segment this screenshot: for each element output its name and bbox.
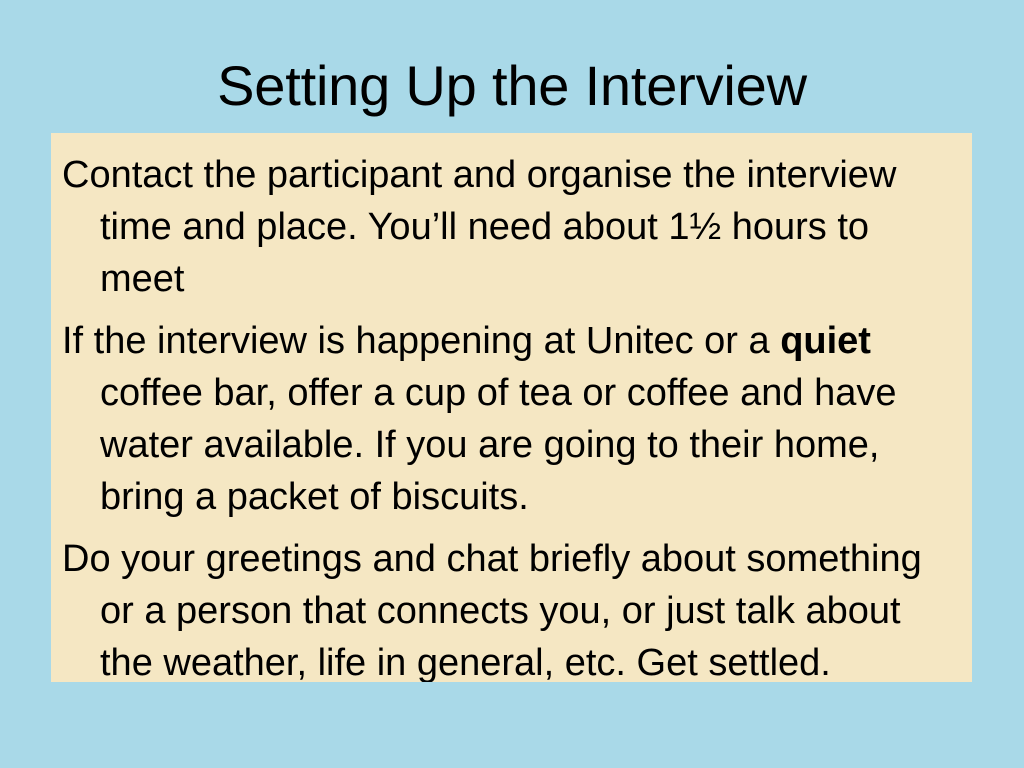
slide-title: Setting Up the Interview	[0, 54, 1024, 118]
body-text: If the interview is happening at Unitec …	[62, 320, 780, 362]
slide-bullet-paragraph: If the interview is happening at Unitec …	[62, 315, 958, 523]
presentation-slide: Setting Up the Interview Contact the par…	[0, 0, 1024, 768]
slide-bullet-paragraph: Do your greetings and chat briefly about…	[62, 533, 958, 682]
body-text: coffee bar, offer a cup of tea or coffee…	[100, 372, 896, 518]
slide-content-box: Contact the participant and organise the…	[51, 133, 972, 682]
body-text: Contact the participant and organise the…	[62, 154, 896, 300]
slide-bullet-paragraph: Contact the participant and organise the…	[62, 149, 958, 305]
emphasised-text: quiet	[780, 320, 871, 362]
body-text: Do your greetings and chat briefly about…	[62, 538, 922, 682]
